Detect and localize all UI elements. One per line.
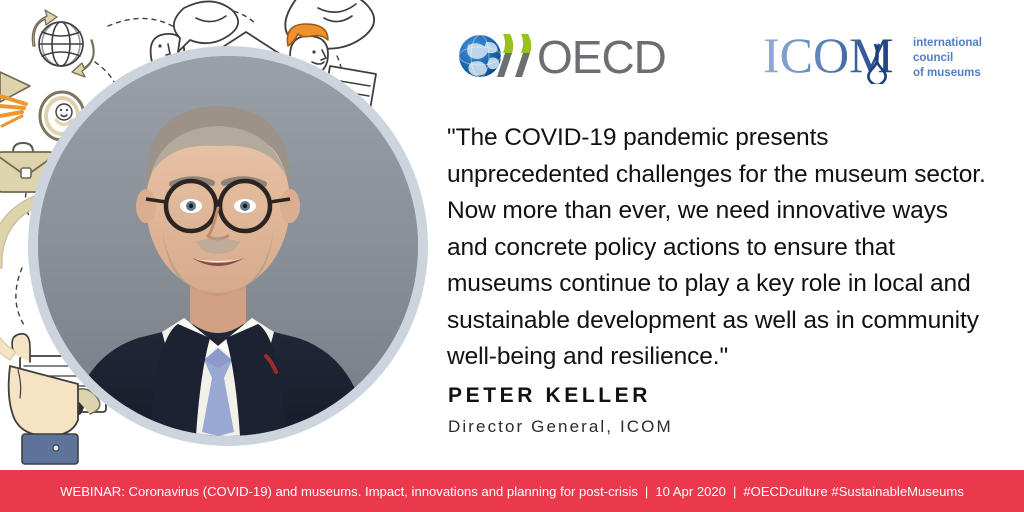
webinar-promo-card: OECD ICOM xyxy=(0,0,1024,512)
double-chevron-icon xyxy=(497,34,531,77)
banner-separator-2: | xyxy=(726,484,743,499)
banner-separator-1: | xyxy=(638,484,655,499)
right-content-panel: OECD ICOM xyxy=(444,0,1024,470)
quote-text: "The COVID-19 pandemic presents unpreced… xyxy=(447,120,995,376)
banner-text: WEBINAR: Coronavirus (COVID-19) and muse… xyxy=(60,484,964,499)
icom-logo: ICOM international council of museums xyxy=(763,28,1015,84)
bottom-banner: WEBINAR: Coronavirus (COVID-19) and muse… xyxy=(0,470,1024,512)
icom-tagline-line-1: international xyxy=(913,37,982,49)
banner-date: 10 Apr 2020 xyxy=(655,484,726,499)
left-illustration-panel xyxy=(0,0,440,470)
icom-tagline-line-3: of museums xyxy=(913,67,981,79)
banner-webinar-text: WEBINAR: Coronavirus (COVID-19) and muse… xyxy=(60,484,638,499)
oecd-wordmark: OECD xyxy=(537,31,666,83)
attribution-block: PETER KELLER Director General, ICOM xyxy=(448,383,968,437)
logo-row: OECD ICOM xyxy=(450,26,1024,88)
lightbulb-rays-icon xyxy=(0,72,30,126)
author-title: Director General, ICOM xyxy=(448,408,968,437)
icom-tagline-line-2: council xyxy=(913,52,953,64)
peter-keller-portrait xyxy=(38,56,418,436)
quote-block: "The COVID-19 pandemic presents unpreced… xyxy=(447,120,995,376)
author-name: PETER KELLER xyxy=(448,383,968,408)
globe-icon xyxy=(459,35,501,77)
icom-wordmark: ICOM xyxy=(763,28,894,83)
banner-hashtags: #OECDculture #SustainableMuseums xyxy=(743,484,964,499)
oecd-logo: OECD xyxy=(456,28,686,84)
